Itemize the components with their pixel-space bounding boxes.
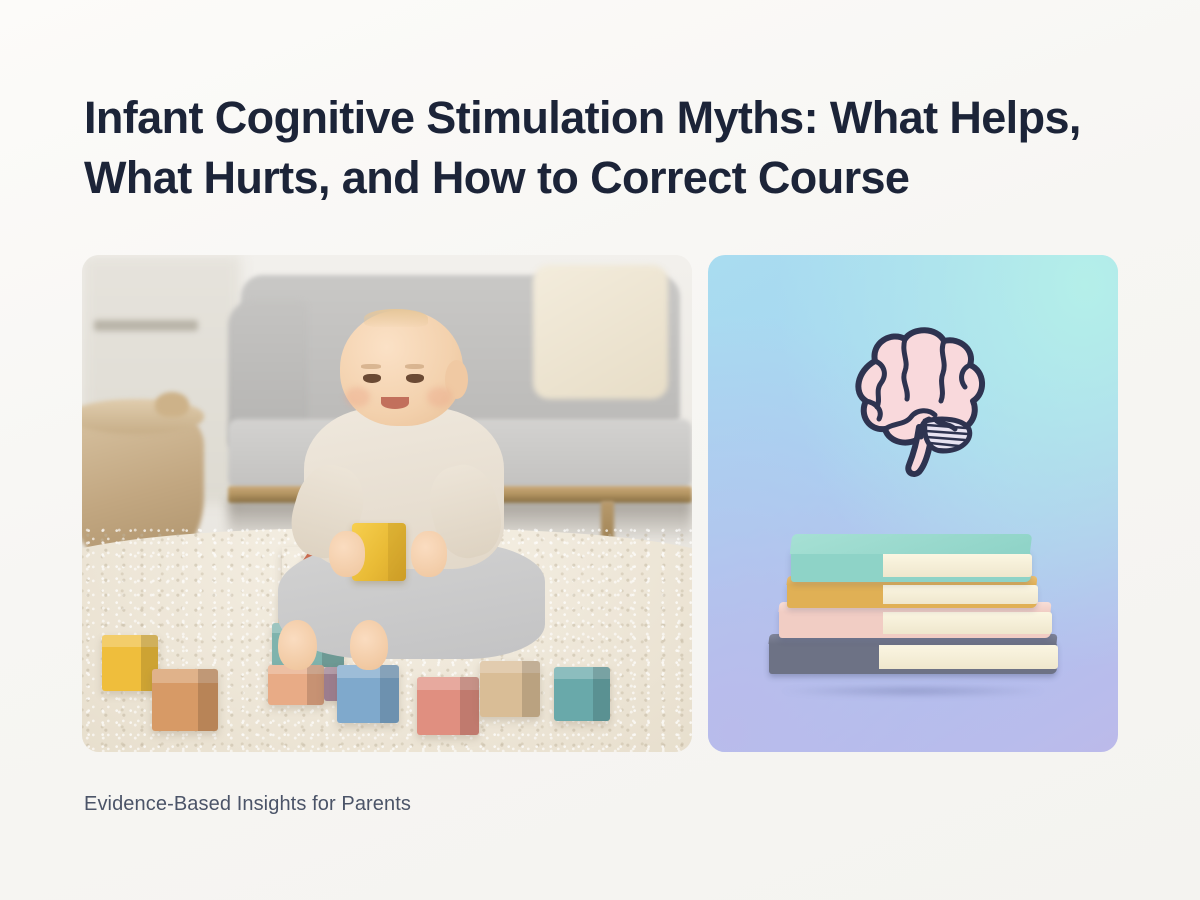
block-caramel-cube	[152, 669, 218, 731]
book-pages	[883, 554, 1032, 577]
book-pages	[883, 612, 1052, 634]
baby-hand	[329, 531, 365, 578]
book-third	[779, 608, 1051, 638]
subtitle: Evidence-Based Insights for Parents	[84, 793, 411, 816]
media-row	[82, 255, 1118, 752]
baby-figure	[283, 310, 539, 698]
baby-hair	[364, 309, 428, 328]
wall-shelf	[94, 320, 198, 331]
book-stack	[763, 528, 1063, 708]
block-side-face	[593, 667, 610, 721]
book-bottom	[769, 640, 1057, 674]
page-title: Infant Cognitive Stimulation Myths: What…	[84, 88, 1144, 208]
baby-cheek	[345, 387, 371, 406]
book-top-top-face	[790, 534, 1032, 554]
book-stack-shadow	[781, 685, 1045, 697]
baby-head	[340, 310, 463, 426]
block-side-face	[198, 669, 218, 731]
basket-knot	[155, 392, 189, 417]
block-yellow-cube	[102, 635, 158, 691]
baby-foot	[278, 620, 316, 670]
baby-foot	[350, 620, 388, 670]
block-teal-cube	[554, 667, 610, 721]
living-room-scene	[82, 255, 692, 752]
book-pages	[883, 585, 1038, 604]
baby-eye	[363, 374, 381, 383]
baby-eyebrow	[405, 364, 424, 369]
brain-icon	[813, 309, 1013, 489]
baby-eye	[406, 374, 424, 383]
book-second	[787, 582, 1037, 608]
poster-canvas: Infant Cognitive Stimulation Myths: What…	[0, 0, 1200, 900]
baby-hand	[411, 531, 447, 578]
baby-eyebrow	[361, 364, 380, 369]
book-pages	[879, 645, 1058, 669]
baby-cheek	[427, 387, 453, 406]
book-top	[791, 550, 1031, 582]
heading-block: Infant Cognitive Stimulation Myths: What…	[84, 88, 1144, 208]
brain-and-books-illustration[interactable]	[708, 255, 1118, 752]
sofa-pillow	[533, 265, 667, 399]
baby-playing-with-blocks-photo[interactable]	[82, 255, 692, 752]
